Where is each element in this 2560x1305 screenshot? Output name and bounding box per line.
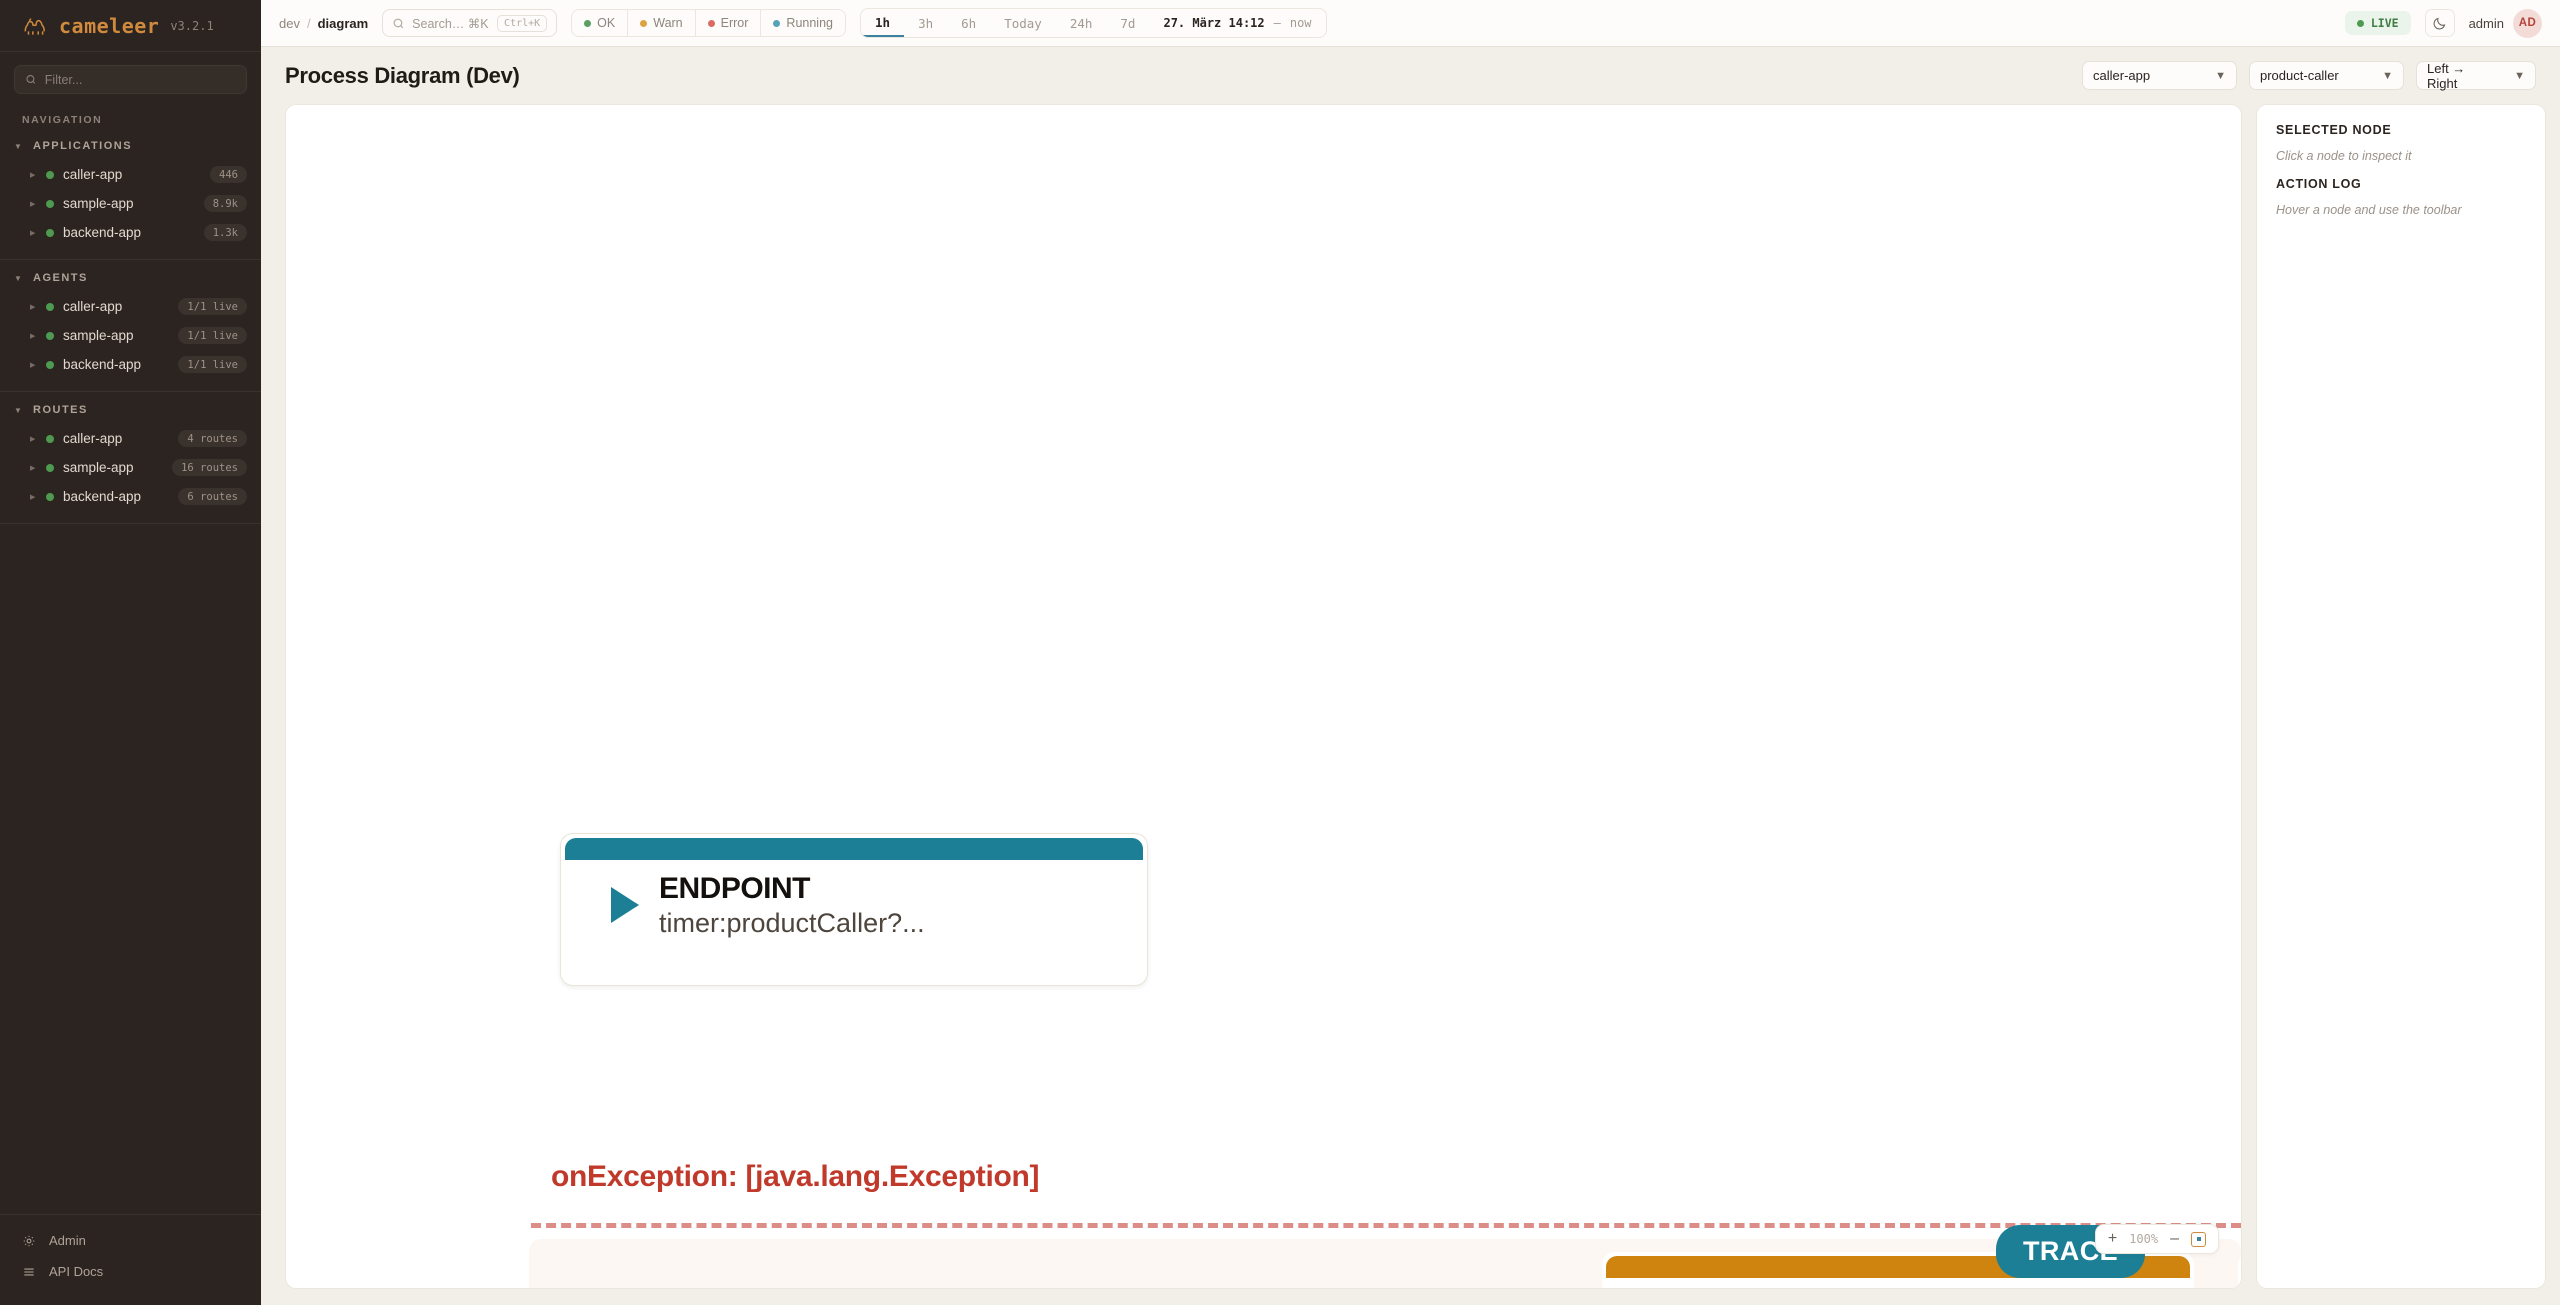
live-dot [2357,20,2364,27]
sidebar-item-label: sample-app [63,328,169,343]
live-label: LIVE [2371,16,2399,30]
sidebar: cameleer v3.2.1 NAVIGATION ▼ APPLICATION… [0,0,261,1305]
group-header-applications[interactable]: ▼ APPLICATIONS [0,132,261,160]
nav-section-title: NAVIGATION [0,104,261,132]
selected-node-title: SELECTED NODE [2276,123,2526,137]
sidebar-item-badge: 16 routes [172,459,247,476]
gear-icon [22,1234,36,1248]
status-dot [46,493,54,501]
divider [0,523,261,524]
sidebar-footer-label: Admin [49,1233,86,1248]
group-header-routes[interactable]: ▼ ROUTES [0,396,261,424]
time-dash: — [1274,16,1281,30]
sidebar-footer-label: API Docs [49,1264,103,1279]
node-header-bar [565,838,1143,860]
node-body: ENDPOINT timer:productCaller?... [561,860,1147,939]
sidebar-item-label: caller-app [63,299,169,314]
theme-toggle-button[interactable] [2425,9,2455,37]
sidebar-item-badge: 1/1 live [178,327,247,344]
brand-name: cameleer [59,14,159,38]
action-log-title: ACTION LOG [2276,177,2526,191]
brand[interactable]: cameleer v3.2.1 [0,0,261,52]
chevron-right-icon: ▶ [30,435,37,443]
breadcrumb-parent[interactable]: dev [279,16,300,31]
group-label: APPLICATIONS [33,140,132,152]
chevron-down-icon: ▼ [2215,70,2226,82]
breadcrumb-current: diagram [318,16,369,31]
search-placeholder: Search… ⌘K [412,16,490,31]
status-chip-label: OK [597,16,615,30]
chevron-right-icon: ▶ [30,493,37,501]
search-icon [25,73,37,86]
inspector-panel: SELECTED NODE Click a node to inspect it… [2256,104,2546,1289]
group-label: ROUTES [33,404,88,416]
sidebar-item-agents-sample-app[interactable]: ▶ sample-app 1/1 live [0,321,261,350]
sidebar-item-admin[interactable]: Admin [0,1225,261,1256]
status-chip-ok[interactable]: OK [572,10,628,36]
chevron-right-icon: ▶ [30,361,37,369]
page-header: Process Diagram (Dev) caller-app ▼ produ… [261,47,2560,104]
avatar: AD [2513,9,2542,38]
status-dot [46,361,54,369]
route-select-value: product-caller [2260,68,2339,83]
camel-icon [22,13,48,39]
chevron-down-icon: ▼ [2514,70,2525,82]
sidebar-item-routes-caller-app[interactable]: ▶ caller-app 4 routes [0,424,261,453]
direction-select[interactable]: Left → Right ▼ [2416,61,2536,90]
exception-divider [531,1223,2241,1228]
status-dot [46,332,54,340]
group-header-agents[interactable]: ▼ AGENTS [0,264,261,292]
sidebar-item-agents-caller-app[interactable]: ▶ caller-app 1/1 live [0,292,261,321]
main-area: dev / diagram Search… ⌘K Ctrl+K OK Warn [261,0,2560,1305]
chevron-right-icon: ▶ [30,171,37,179]
sidebar-item-applications-caller-app[interactable]: ▶ caller-app 446 [0,160,261,189]
sidebar-item-applications-sample-app[interactable]: ▶ sample-app 8.9k [0,189,261,218]
chevron-down-icon: ▼ [2382,70,2393,82]
nav-group-applications: ▼ APPLICATIONS ▶ caller-app 446 ▶ sample… [0,132,261,255]
chevron-right-icon: ▶ [30,464,37,472]
sidebar-item-badge: 1.3k [204,224,247,241]
range-button-1h[interactable]: 1h [861,9,904,37]
range-button-24h[interactable]: 24h [1056,9,1107,37]
status-filter-chips: OK Warn Error Running [571,9,846,37]
sidebar-item-label: sample-app [63,460,163,475]
status-chip-running[interactable]: Running [761,10,845,36]
chevron-right-icon: ▶ [30,303,37,311]
status-dot [46,200,54,208]
sidebar-item-badge: 6 routes [178,488,247,505]
zoom-out-button[interactable]: – [2170,1231,2179,1247]
diagram-canvas[interactable]: ENDPOINT timer:productCaller?... onExcep… [285,104,2242,1289]
node-uri-label: timer:productCaller?... [659,907,925,939]
chevron-right-icon: ▶ [30,200,37,208]
divider [0,259,261,260]
sidebar-item-label: caller-app [63,167,201,182]
live-badge[interactable]: LIVE [2345,11,2411,35]
chevron-right-icon: ▶ [30,332,37,340]
chevron-down-icon: ▼ [14,142,23,151]
status-dot [46,464,54,472]
sidebar-item-applications-backend-app[interactable]: ▶ backend-app 1.3k [0,218,261,247]
app-root: cameleer v3.2.1 NAVIGATION ▼ APPLICATION… [0,0,2560,1305]
sidebar-item-badge: 1/1 live [178,356,247,373]
fit-to-screen-icon[interactable] [2191,1232,2206,1247]
time-to: now [1290,16,1312,30]
status-dot [640,20,647,27]
route-select[interactable]: product-caller ▼ [2249,61,2404,90]
page-title: Process Diagram (Dev) [285,63,520,89]
list-icon [22,1265,36,1279]
sidebar-item-api-docs[interactable]: API Docs [0,1256,261,1287]
exception-handler-label: onException: [java.lang.Exception] [551,1160,1039,1194]
sidebar-item-label: backend-app [63,489,169,504]
user-name: admin [2469,16,2504,31]
breadcrumb: dev / diagram [279,16,368,31]
topbar: dev / diagram Search… ⌘K Ctrl+K OK Warn [261,0,2560,47]
status-chip-label: Running [786,16,833,30]
status-chip-error[interactable]: Error [696,10,762,36]
chevron-right-icon: ▶ [30,229,37,237]
direction-select-value: Left → Right [2427,61,2496,91]
sidebar-item-badge: 446 [210,166,247,183]
node-kind-label: ENDPOINT [659,872,925,907]
sidebar-nav: NAVIGATION ▼ APPLICATIONS ▶ caller-app 4… [0,104,261,1214]
zoom-level: 100% [2129,1232,2158,1246]
status-dot [46,303,54,311]
search-icon [392,17,405,30]
nav-group-routes: ▼ ROUTES ▶ caller-app 4 routes ▶ sample-… [0,396,261,519]
chevron-down-icon: ▼ [14,274,23,283]
range-button-today[interactable]: Today [990,9,1056,37]
user-menu[interactable]: admin AD [2469,9,2542,38]
time-range-display[interactable]: 27. März 14:12 — now [1149,16,1325,30]
divider [0,391,261,392]
range-button-6h[interactable]: 6h [947,9,990,37]
diagram-controls: caller-app ▼ product-caller ▼ Left → Rig… [2082,61,2536,90]
sidebar-item-label: sample-app [63,196,195,211]
range-button-7d[interactable]: 7d [1106,9,1149,37]
chevron-down-icon: ▼ [14,406,23,415]
sidebar-item-routes-sample-app[interactable]: ▶ sample-app 16 routes [0,453,261,482]
play-icon [611,887,639,923]
sidebar-item-agents-backend-app[interactable]: ▶ backend-app 1/1 live [0,350,261,379]
status-chip-label: Warn [653,16,682,30]
zoom-in-button[interactable]: + [2108,1231,2117,1247]
sidebar-item-label: caller-app [63,431,169,446]
application-select-value: caller-app [2093,68,2150,83]
range-button-3h[interactable]: 3h [904,9,947,37]
status-dot [46,435,54,443]
status-chip-warn[interactable]: Warn [628,10,695,36]
diagram-node-endpoint[interactable]: ENDPOINT timer:productCaller?... [560,833,1148,986]
status-dot [708,20,715,27]
application-select[interactable]: caller-app ▼ [2082,61,2237,90]
status-chip-label: Error [721,16,749,30]
status-dot [46,229,54,237]
sidebar-item-label: backend-app [63,225,195,240]
nav-group-agents: ▼ AGENTS ▶ caller-app 1/1 live ▶ sample-… [0,264,261,387]
brand-version: v3.2.1 [170,19,213,33]
breadcrumb-separator: / [307,16,311,31]
group-label: AGENTS [33,272,88,284]
sidebar-item-routes-backend-app[interactable]: ▶ backend-app 6 routes [0,482,261,511]
selected-node-hint: Click a node to inspect it [2276,149,2526,163]
filter-box[interactable] [14,65,247,94]
moon-icon [2432,16,2447,31]
sidebar-item-badge: 4 routes [178,430,247,447]
time-range-selector: 1h 3h 6h Today 24h 7d 27. März 14:12 — n… [860,8,1327,38]
sidebar-item-badge: 1/1 live [178,298,247,315]
sidebar-item-label: backend-app [63,357,169,372]
status-dot [584,20,591,27]
action-log-hint: Hover a node and use the toolbar [2276,203,2526,217]
zoom-controls: + 100% – [2095,1224,2219,1254]
status-dot [46,171,54,179]
search-shortcut: Ctrl+K [497,15,547,32]
search-box[interactable]: Search… ⌘K Ctrl+K [382,9,557,37]
sidebar-footer: Admin API Docs [0,1214,261,1305]
status-dot [773,20,780,27]
content-area: ENDPOINT timer:productCaller?... onExcep… [261,104,2560,1305]
sidebar-filter-input[interactable] [45,73,236,87]
time-from: 27. März 14:12 [1163,16,1264,30]
filter-wrap [0,52,261,104]
sidebar-item-badge: 8.9k [204,195,247,212]
